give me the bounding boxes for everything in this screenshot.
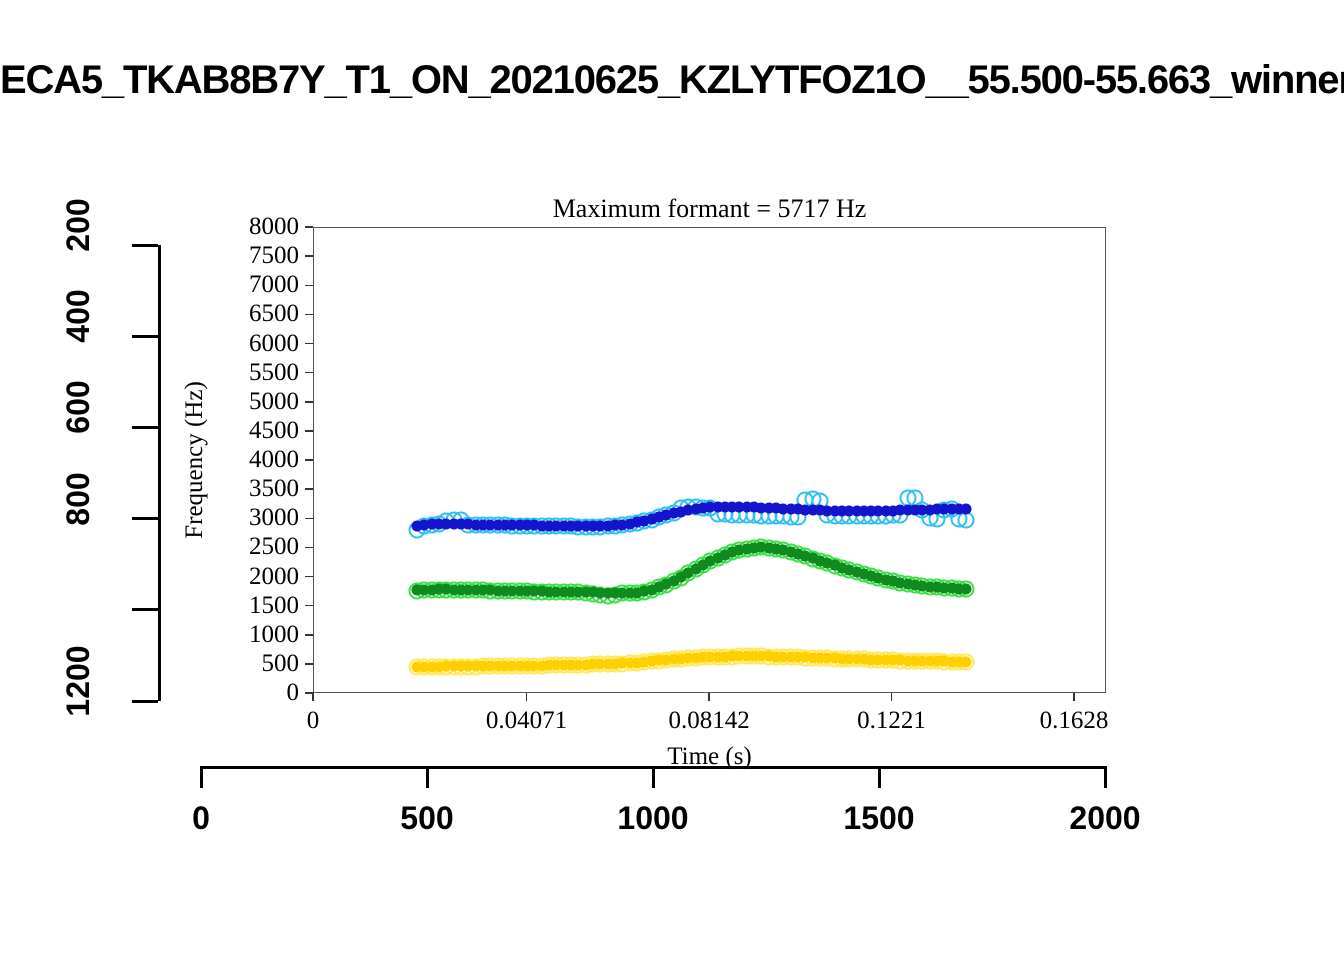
frequency-tick-label: 4500	[249, 417, 299, 445]
frequency-tick-label: 1000	[249, 621, 299, 649]
frequency-tick-label: 6000	[249, 330, 299, 358]
screenshot-root: ECA5_TKAB8B7Y_T1_ON_20210625_KZLYTFOZ1O_…	[0, 0, 1344, 960]
time-tick-label: 0.1221	[857, 707, 926, 735]
frequency-tick	[305, 663, 313, 665]
frequency-tick	[305, 576, 313, 578]
frequency-tick-label: 500	[262, 650, 300, 678]
frequency-tick	[305, 488, 313, 490]
frequency-tick-label: 2500	[249, 533, 299, 561]
spectrogram-panel: Maximum formant = 5717 Hz 05001000150020…	[313, 227, 1106, 693]
time-tick	[1073, 693, 1075, 701]
frequency-tick	[305, 372, 313, 374]
time-tick	[891, 693, 893, 701]
frequency-tick	[305, 430, 313, 432]
frequency-tick-label: 3000	[249, 504, 299, 532]
time-tick	[708, 693, 710, 701]
frequency-tick	[305, 634, 313, 636]
frequency-tick	[305, 518, 313, 520]
outer-bottom-tick-label: 2000	[1069, 800, 1140, 837]
frequency-tick-label: 4000	[249, 446, 299, 474]
frequency-tick	[305, 343, 313, 345]
time-tick-label: 0.04071	[486, 707, 567, 735]
time-tick	[312, 693, 314, 701]
frequency-tick	[305, 285, 313, 287]
frequency-tick-label: 3500	[249, 475, 299, 503]
frequency-tick	[305, 459, 313, 461]
time-tick	[526, 693, 528, 701]
outer-bottom-tick-label: 1000	[617, 800, 688, 837]
outer-bottom-tick-label: 500	[400, 800, 453, 837]
plot-frame	[313, 227, 1106, 693]
frequency-tick-label: 2000	[249, 563, 299, 591]
outer-bottom-tick-label: 0	[192, 800, 210, 837]
frequency-tick-label: 8000	[249, 213, 299, 241]
frequency-tick-label: 7500	[249, 242, 299, 270]
time-tick-label: 0.08142	[668, 707, 749, 735]
frequency-tick-label: 6500	[249, 300, 299, 328]
frequency-tick	[305, 401, 313, 403]
frequency-tick	[305, 547, 313, 549]
time-tick-label: 0.1628	[1040, 707, 1109, 735]
frequency-tick-label: 1500	[249, 592, 299, 620]
outer-bottom-tick-label: 1500	[843, 800, 914, 837]
x-axis-title: Time (s)	[313, 743, 1106, 771]
frequency-tick	[305, 314, 313, 316]
time-tick-label: 0	[307, 707, 320, 735]
frequency-tick-label: 5500	[249, 359, 299, 387]
frequency-tick	[305, 605, 313, 607]
outer-bottom-tick	[200, 766, 203, 788]
y-axis-title: Frequency (Hz)	[181, 381, 209, 539]
frequency-tick	[305, 255, 313, 257]
frequency-tick-label: 7000	[249, 271, 299, 299]
frequency-tick-label: 0	[287, 679, 300, 707]
max-formant-subtitle: Maximum formant = 5717 Hz	[313, 194, 1106, 224]
frequency-tick-label: 5000	[249, 388, 299, 416]
frequency-tick	[305, 226, 313, 228]
